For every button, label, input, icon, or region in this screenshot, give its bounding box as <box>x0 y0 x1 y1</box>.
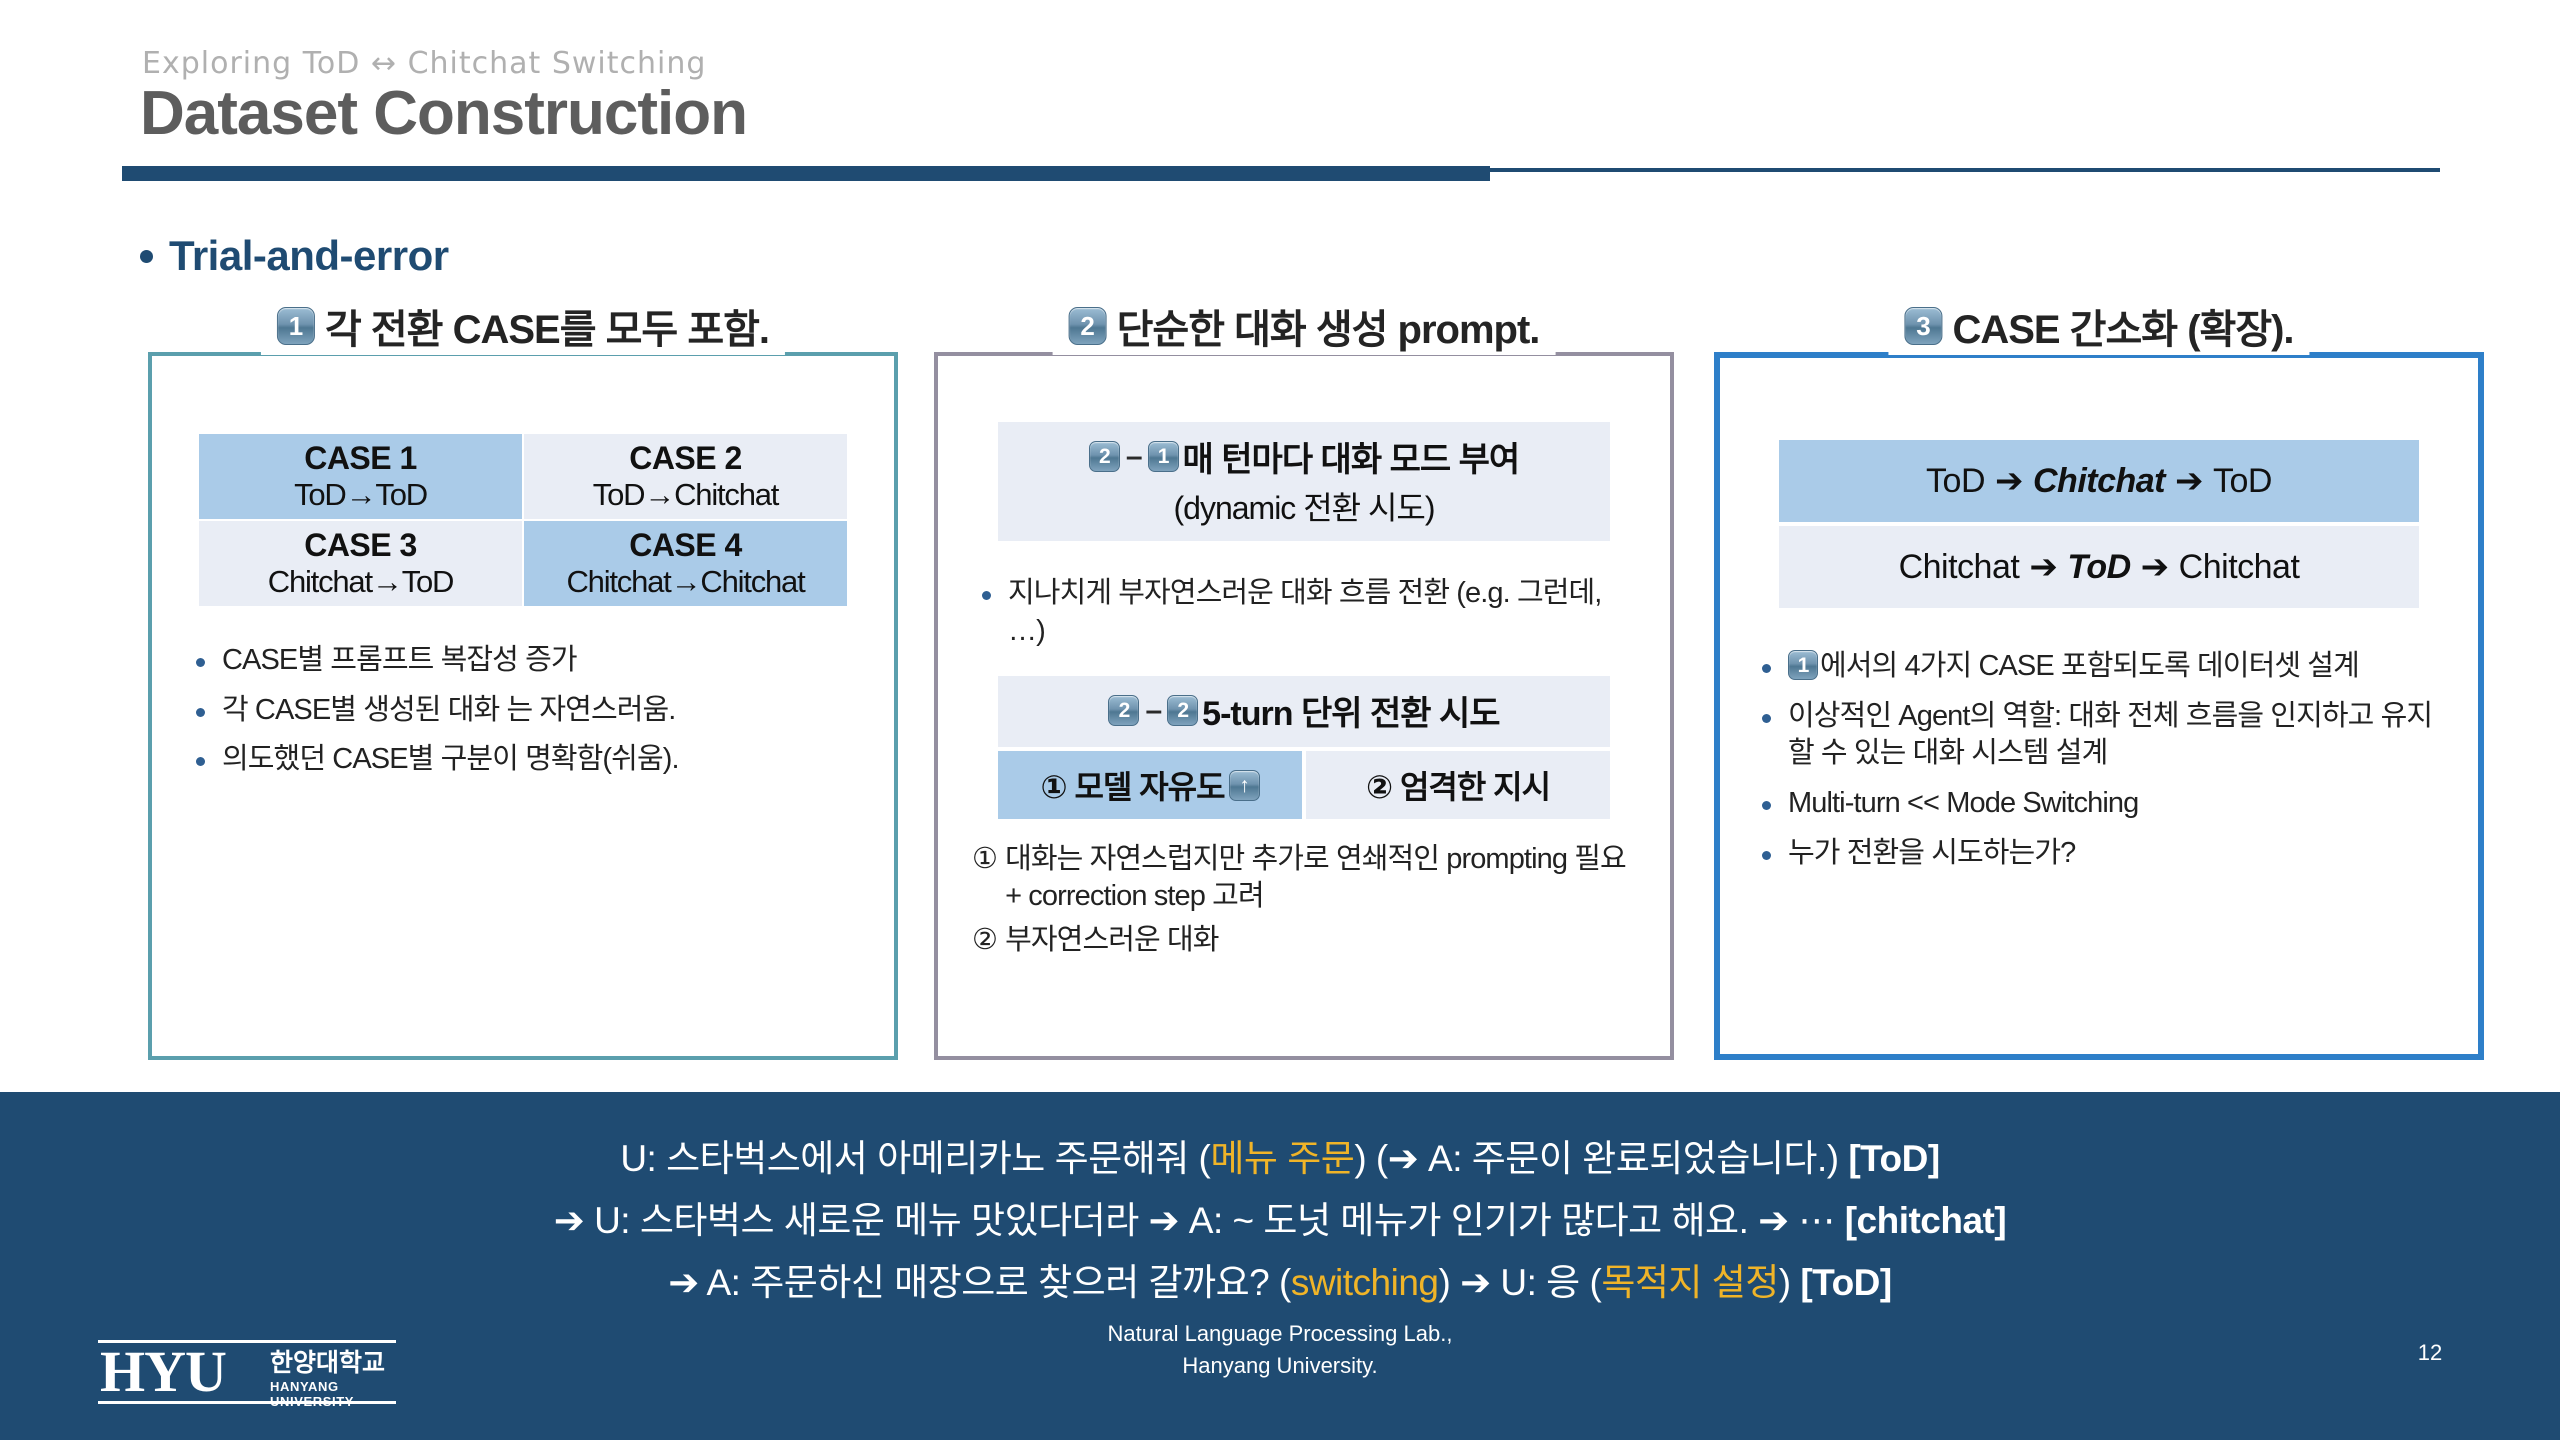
list-item: Multi-turn << Mode Switching <box>1754 785 2450 823</box>
panel-3-body: ToD ➔ Chitchat ➔ ToD Chitchat ➔ ToD ➔ Ch… <box>1714 352 2484 1060</box>
dialogue-line-1-mid: ) (➔ A: 주문이 완료되었습니다.) <box>1354 1138 1848 1179</box>
badge-number-icon: 2 <box>1069 307 1107 345</box>
panel-2-legend: 2 단순한 대화 생성 prompt. <box>1053 297 1556 355</box>
hanyang-university-logo: HYU 한양대학교 HANYANG UNIVERSITY <box>98 1337 398 1407</box>
panel-3-bullets: 1에서의 4가지 CASE 포함되도록 데이터셋 설계 이상적인 Agent의 … <box>1748 648 2450 872</box>
panel-3-legend-label: CASE 간소화 (확장). <box>1952 297 2293 355</box>
list-item: 의도했던 CASE별 구분이 명확함(쉬움). <box>188 741 864 779</box>
table-row: CASE 1 ToD→ToD CASE 2 ToD→Chitchat <box>198 433 848 520</box>
mode-flow-row[interactable]: ToD ➔ Chitchat ➔ ToD <box>1779 440 2419 522</box>
mode-flow-start: Chitchat <box>1899 548 2020 587</box>
arrow-right-icon: ➔ <box>1995 461 2023 501</box>
mode-flow-list: ToD ➔ Chitchat ➔ ToD Chitchat ➔ ToD ➔ Ch… <box>1779 440 2419 608</box>
table-row: CASE 3 Chitchat→ToD CASE 4 Chitchat→Chit… <box>198 520 848 607</box>
badge-dash: – <box>1126 440 1142 474</box>
dialogue-line-2-pre: ➔ U: 스타벅스 새로운 메뉴 맛있다더라 ➔ A: ~ 도넛 메뉴가 인기가… <box>554 1200 1845 1241</box>
case-name: CASE 1 <box>203 440 518 477</box>
panel-simple-prompt: 2 단순한 대화 생성 prompt. 2 – 1 매 턴마다 대화 모드 부여… <box>934 330 1674 1060</box>
footer-lab-line-1: Natural Language Processing Lab., <box>1020 1318 1540 1350</box>
sub-section-title-row: 2 – 1 매 턴마다 대화 모드 부여 <box>1008 432 1600 481</box>
option-strict-instruction[interactable]: ② 엄격한 지시 <box>1306 751 1610 819</box>
panel-case-coverage: 1 각 전환 CASE를 모두 포함. CASE 1 ToD→ToD CASE … <box>148 330 898 1060</box>
option-row: ① 모델 자유도 ↑ ② 엄격한 지시 <box>998 751 1610 819</box>
sub-section-subtitle: (dynamic 전환 시도) <box>1008 483 1600 529</box>
panel-3-legend: 3 CASE 간소화 (확장). <box>1888 297 2309 355</box>
bullet-dot-icon <box>140 250 153 263</box>
dialogue-line-3-highlight-2: 목적지 설정 <box>1601 1262 1778 1303</box>
dialogue-line-3: ➔ A: 주문하신 매장으로 찾으러 갈까요? (switching) ➔ U:… <box>0 1252 2560 1306</box>
panel-1-body: CASE 1 ToD→ToD CASE 2 ToD→Chitchat CASE … <box>148 352 898 1060</box>
panel-1-legend-label: 각 전환 CASE를 모두 포함. <box>325 297 769 355</box>
option-label: ② 엄격한 지시 <box>1366 762 1550 808</box>
dialogue-line-2-tag: [chitchat] <box>1845 1200 2007 1241</box>
list-item: 누가 전환을 시도하는가? <box>1754 835 2450 873</box>
case-table: CASE 1 ToD→ToD CASE 2 ToD→Chitchat CASE … <box>197 432 849 608</box>
sub-section-dynamic-mode: 2 – 1 매 턴마다 대화 모드 부여 (dynamic 전환 시도) <box>998 422 1610 541</box>
slide: Exploring ToD ↔ Chitchat Switching Datas… <box>0 0 2560 1440</box>
arrow-right-icon: ➔ <box>2175 461 2203 501</box>
section-heading-label: Trial-and-error <box>169 232 449 280</box>
case-name: CASE 3 <box>203 527 518 564</box>
dialogue-line-1-highlight: 메뉴 주문 <box>1210 1138 1354 1179</box>
dialogue-line-3-tag: [ToD] <box>1800 1262 1891 1303</box>
page-title: Dataset Construction <box>140 78 747 149</box>
sub-section-5turn: 2 – 2 5-turn 단위 전환 시도 <box>998 676 1610 747</box>
option-model-freedom[interactable]: ① 모델 자유도 ↑ <box>998 751 1302 819</box>
sub-section-title: 5-turn 단위 전환 시도 <box>1202 686 1499 735</box>
numbered-note-mark: ① <box>972 841 997 915</box>
case-cell[interactable]: CASE 1 ToD→ToD <box>198 433 523 520</box>
dialogue-line-3-mid: ) ➔ U: 응 ( <box>1439 1262 1602 1303</box>
mode-flow-end: Chitchat <box>2179 548 2300 587</box>
badge-number-icon: 1 <box>1788 650 1818 680</box>
badge-number-icon: 1 <box>1148 441 1179 472</box>
case-flow: ToD→Chitchat <box>528 477 843 513</box>
header-kicker: Exploring ToD ↔ Chitchat Switching <box>142 46 706 81</box>
dialogue-line-2: ➔ U: 스타벅스 새로운 메뉴 맛있다더라 ➔ A: ~ 도넛 메뉴가 인기가… <box>0 1190 2560 1244</box>
slide-header: Exploring ToD ↔ Chitchat Switching Datas… <box>0 0 2560 180</box>
numbered-note-text: 부자연스러운 대화 <box>1005 922 1640 959</box>
case-flow: ToD→ToD <box>203 477 518 513</box>
case-cell[interactable]: CASE 2 ToD→Chitchat <box>523 433 848 520</box>
panel-1-bullets: CASE별 프롬프트 복잡성 증가 각 CASE별 생성된 대화 는 자연스러움… <box>182 642 864 779</box>
page-number: 12 <box>2400 1340 2460 1366</box>
badge-number-icon: 2 <box>1089 441 1120 472</box>
case-flow: Chitchat→ToD <box>203 564 518 600</box>
badge-number-icon: 2 <box>1167 695 1198 726</box>
dialogue-line-3-post: ) <box>1779 1262 1801 1303</box>
footer-lab-line-2: Hanyang University. <box>1020 1350 1540 1382</box>
list-item: 이상적인 Agent의 역할: 대화 전체 흐름을 인지하고 유지할 수 있는 … <box>1754 698 2450 773</box>
case-name: CASE 2 <box>528 440 843 477</box>
sub-section-title-row: 2 – 2 5-turn 단위 전환 시도 <box>1008 686 1600 735</box>
arrow-right-icon: ➔ <box>2029 547 2057 587</box>
panel-2-body: 2 – 1 매 턴마다 대화 모드 부여 (dynamic 전환 시도) 지나치… <box>934 352 1674 1060</box>
panel-2-legend-label: 단순한 대화 생성 prompt. <box>1117 297 1540 355</box>
mode-flow-middle: ToD <box>2067 548 2130 587</box>
numbered-note: ② 부자연스러운 대화 <box>972 922 1640 959</box>
mode-flow-end: ToD <box>2213 462 2272 501</box>
dialogue-line-3-pre: ➔ A: 주문하신 매장으로 찾으러 갈까요? ( <box>668 1262 1291 1303</box>
title-underline-thin <box>1490 168 2440 172</box>
arrow-up-icon: ↑ <box>1229 770 1260 801</box>
dialogue-line-1-tag: [ToD] <box>1848 1138 1939 1179</box>
numbered-note-mark: ② <box>972 922 997 959</box>
case-cell[interactable]: CASE 3 Chitchat→ToD <box>198 520 523 607</box>
option-label: ① 모델 자유도 <box>1040 762 1224 808</box>
section-heading: Trial-and-error <box>140 232 449 280</box>
list-item-label: 에서의 4가지 CASE 포함되도록 데이터셋 설계 <box>1820 650 2359 682</box>
sub-section-title: 매 턴마다 대화 모드 부여 <box>1183 432 1520 481</box>
panel-case-simplification: 3 CASE 간소화 (확장). ToD ➔ Chitchat ➔ ToD Ch… <box>1714 330 2484 1060</box>
list-item: 지나치게 부자연스러운 대화 흐름 전환 (e.g. 그런데, …) <box>974 575 1640 650</box>
numbered-note: ① 대화는 자연스럽지만 추가로 연쇄적인 prompting 필요 + cor… <box>972 841 1640 915</box>
title-underline-thick <box>122 166 1490 181</box>
footer-lab-text: Natural Language Processing Lab., Hanyan… <box>1020 1318 1540 1382</box>
list-item: 1에서의 4가지 CASE 포함되도록 데이터셋 설계 <box>1754 648 2450 686</box>
panel-2-numbered-notes: ① 대화는 자연스럽지만 추가로 연쇄적인 prompting 필요 + cor… <box>972 841 1640 958</box>
logo-mark: HYU <box>100 1340 226 1404</box>
badge-dash: – <box>1145 694 1161 728</box>
badge-number-icon: 3 <box>1904 307 1942 345</box>
mode-flow-start: ToD <box>1926 462 1985 501</box>
logo-korean-name: 한양대학교 <box>270 1349 385 1377</box>
arrow-right-icon: ➔ <box>2141 547 2169 587</box>
logo-english-name: HANYANG UNIVERSITY <box>270 1379 398 1409</box>
mode-flow-middle: Chitchat <box>2033 462 2165 501</box>
badge-number-icon: 2 <box>1108 695 1139 726</box>
case-flow: Chitchat→Chitchat <box>528 564 843 600</box>
dialogue-line-3-highlight: switching <box>1291 1262 1439 1303</box>
numbered-note-text: 대화는 자연스럽지만 추가로 연쇄적인 prompting 필요 + corre… <box>1005 841 1640 915</box>
dialogue-line-1: U: 스타벅스에서 아메리카노 주문해줘 (메뉴 주문) (➔ A: 주문이 완… <box>0 1128 2560 1182</box>
mode-flow-row[interactable]: Chitchat ➔ ToD ➔ Chitchat <box>1779 526 2419 608</box>
case-cell[interactable]: CASE 4 Chitchat→Chitchat <box>523 520 848 607</box>
list-item: 각 CASE별 생성된 대화 는 자연스러움. <box>188 692 864 730</box>
case-name: CASE 4 <box>528 527 843 564</box>
panel-2-bullets: 지나치게 부자연스러운 대화 흐름 전환 (e.g. 그런데, …) <box>968 575 1640 650</box>
panel-1-legend: 1 각 전환 CASE를 모두 포함. <box>261 297 785 355</box>
badge-number-icon: 1 <box>277 307 315 345</box>
dialogue-line-1-pre: U: 스타벅스에서 아메리카노 주문해줘 ( <box>620 1138 1210 1179</box>
list-item: CASE별 프롬프트 복잡성 증가 <box>188 642 864 680</box>
